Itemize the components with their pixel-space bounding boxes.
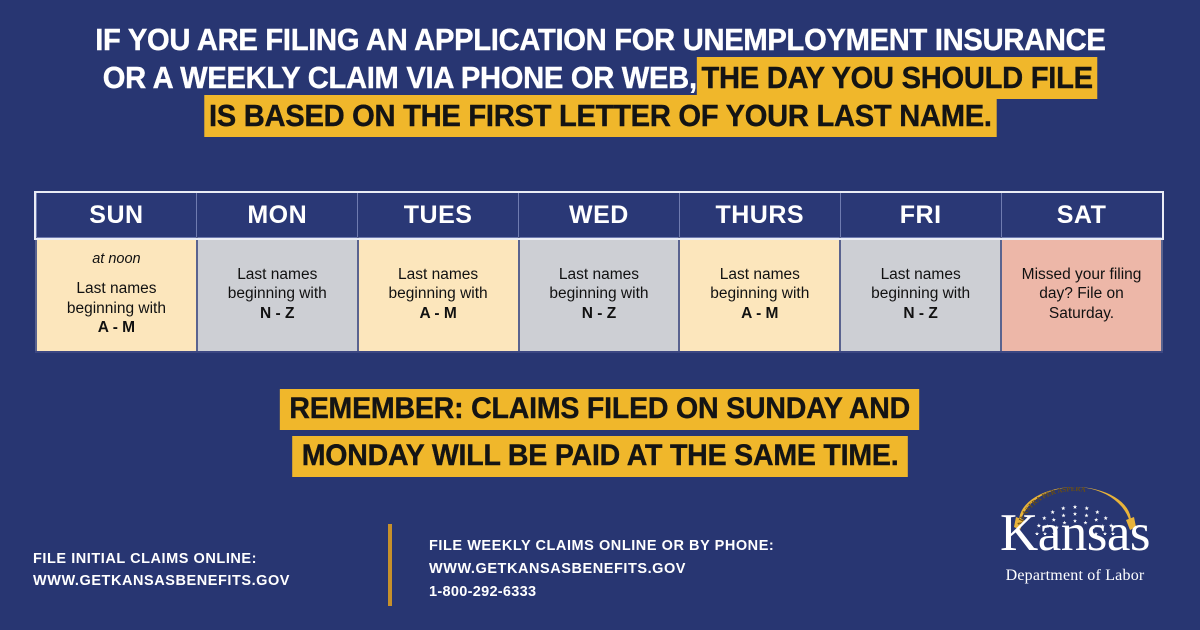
cell-text-sun: Last names beginning with [43, 279, 190, 319]
kansas-dol-logo: AD ASTRA PER ASPERA Kansas Department of… [975, 487, 1175, 597]
table-cell-thurs: Last names beginning with A - M [679, 238, 840, 352]
headline-line-2-highlight: THE DAY YOU SHOULD FILE [697, 57, 1098, 99]
cell-text-fri: Last names beginning with [847, 265, 994, 305]
cell-range-wed: N - Z [526, 304, 673, 324]
table-header-row: SUN MON TUES WED THURS FRI SAT [36, 193, 1162, 238]
cell-text-tues: Last names beginning with [365, 265, 512, 305]
logo-subtitle: Department of Labor [975, 567, 1175, 585]
footer-initial-claims-url[interactable]: WWW.GETKANSASBENEFITS.GOV [33, 570, 290, 592]
headline-line-2: OR A WEEKLY CLAIM VIA PHONE OR WEB,THE D… [0, 62, 1200, 93]
footer-weekly-claims-phone[interactable]: 1-800-292-6333 [429, 581, 774, 604]
headline-line-2-plain: OR A WEEKLY CLAIM VIA PHONE OR WEB, [103, 60, 697, 95]
logo-wordmark: Kansas [975, 507, 1175, 560]
footer-divider [388, 524, 392, 606]
table-cell-sat: Missed your filing day? File on Saturday… [1001, 238, 1162, 352]
cell-range-tues: A - M [365, 304, 512, 324]
table-cell-mon: Last names beginning with N - Z [197, 238, 358, 352]
table-header-sat: SAT [1001, 193, 1162, 238]
cell-range-mon: N - Z [204, 304, 351, 324]
footer-weekly-claims-label: FILE WEEKLY CLAIMS ONLINE OR BY PHONE: [429, 535, 774, 558]
cell-note-sun: at noon [43, 250, 190, 269]
filing-day-table-wrapper: SUN MON TUES WED THURS FRI SAT at noon L… [35, 192, 1163, 353]
headline-line-1-text: IF YOU ARE FILING AN APPLICATION FOR UNE… [95, 22, 1105, 57]
footer-weekly-claims-url[interactable]: WWW.GETKANSASBENEFITS.GOV [429, 558, 774, 581]
cell-range-thurs: A - M [686, 304, 833, 324]
table-row: at noon Last names beginning with A - M … [36, 238, 1162, 352]
table-header-tues: TUES [358, 193, 519, 238]
remember-line-2-text: MONDAY WILL BE PAID AT THE SAME TIME. [292, 436, 908, 477]
filing-day-table: SUN MON TUES WED THURS FRI SAT at noon L… [35, 192, 1163, 353]
table-header-mon: MON [197, 193, 358, 238]
cell-text-sat: Missed your filing day? File on Saturday… [1008, 265, 1155, 324]
table-cell-tues: Last names beginning with A - M [358, 238, 519, 352]
remember-line-2: MONDAY WILL BE PAID AT THE SAME TIME. [0, 436, 1200, 477]
cell-range-fri: N - Z [847, 304, 994, 324]
footer-weekly-claims: FILE WEEKLY CLAIMS ONLINE OR BY PHONE: W… [429, 535, 774, 604]
footer-initial-claims-label: FILE INITIAL CLAIMS ONLINE: [33, 548, 290, 570]
headline-line-3-highlight: IS BASED ON THE FIRST LETTER OF YOUR LAS… [204, 95, 996, 137]
headline-block: IF YOU ARE FILING AN APPLICATION FOR UNE… [0, 24, 1200, 138]
headline-line-1: IF YOU ARE FILING AN APPLICATION FOR UNE… [0, 24, 1200, 55]
cell-text-thurs: Last names beginning with [686, 265, 833, 305]
table-header-sun: SUN [36, 193, 197, 238]
remember-banner: REMEMBER: CLAIMS FILED ON SUNDAY AND MON… [0, 389, 1200, 483]
cell-text-mon: Last names beginning with [204, 265, 351, 305]
headline-line-3: IS BASED ON THE FIRST LETTER OF YOUR LAS… [0, 100, 1200, 131]
cell-range-sun: A - M [43, 318, 190, 338]
table-cell-fri: Last names beginning with N - Z [840, 238, 1001, 352]
table-header-wed: WED [519, 193, 680, 238]
remember-line-1: REMEMBER: CLAIMS FILED ON SUNDAY AND [0, 389, 1200, 430]
table-cell-sun: at noon Last names beginning with A - M [36, 238, 197, 352]
remember-line-1-text: REMEMBER: CLAIMS FILED ON SUNDAY AND [280, 389, 920, 430]
cell-text-wed: Last names beginning with [526, 265, 673, 305]
table-header-fri: FRI [840, 193, 1001, 238]
table-cell-wed: Last names beginning with N - Z [519, 238, 680, 352]
table-body: at noon Last names beginning with A - M … [36, 238, 1162, 352]
table-header: SUN MON TUES WED THURS FRI SAT [36, 193, 1162, 238]
footer-initial-claims: FILE INITIAL CLAIMS ONLINE: WWW.GETKANSA… [33, 548, 290, 593]
table-header-thurs: THURS [679, 193, 840, 238]
